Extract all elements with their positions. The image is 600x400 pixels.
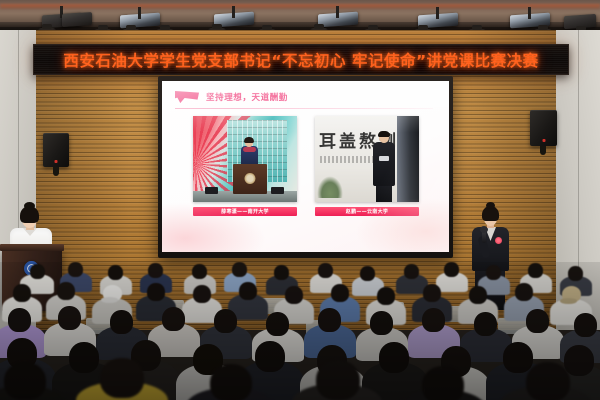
stage-monitor — [205, 187, 218, 194]
attendee-head — [210, 364, 252, 400]
photo-podium — [233, 164, 267, 194]
speaker-power-led — [55, 160, 58, 163]
attendee-head — [255, 341, 285, 372]
attendee-head — [58, 306, 81, 330]
attendee-head — [574, 313, 597, 337]
wall-speaker-right — [530, 110, 557, 146]
attendee-head — [266, 312, 289, 336]
presentation-slide: 坚持理想，天道酬勤 — [162, 81, 449, 252]
speaker-power-led — [542, 139, 545, 142]
attendee-head — [318, 263, 333, 278]
attendee-head — [239, 282, 257, 300]
lectern-top — [0, 244, 64, 251]
led-banner-text: 西安石油大学学生党支部书记“不忘初心 牢记使命”讲党课比赛决赛 — [34, 45, 568, 74]
attendee-head — [148, 263, 163, 278]
attendee-head — [13, 284, 31, 302]
slide-photo-right: 耳盖熬例 — [315, 116, 419, 202]
auditorium-scene: 西安石油大学学生党支部书记“不忘初心 牢记使命”讲党课比赛决赛 坚持理想，天道酬… — [0, 0, 600, 400]
attendee-head — [100, 358, 144, 398]
attendee-head — [526, 309, 549, 333]
attendee-head — [486, 265, 501, 280]
attendee-head — [193, 285, 211, 303]
seated-audience — [0, 262, 600, 400]
slide-divider — [175, 108, 433, 109]
attendee-head — [57, 282, 75, 300]
light-yoke — [528, 7, 531, 19]
attendee-head — [528, 263, 543, 278]
flag-icon — [175, 91, 199, 103]
attendee-head — [444, 262, 459, 277]
light-yoke — [232, 6, 235, 18]
backdrop-calligraphy: 耳盖熬例 — [319, 130, 381, 154]
attendee-head — [316, 360, 360, 400]
attendee-head — [423, 284, 441, 302]
attendee-head — [69, 342, 99, 373]
attendee-head — [404, 264, 419, 279]
photo-caption-right: 赵鹏——云南大学 — [315, 207, 419, 216]
baseball-cap — [103, 285, 122, 301]
potted-plant — [317, 176, 343, 198]
attendee-head — [4, 362, 46, 400]
light-yoke — [336, 6, 339, 18]
attendee-head — [568, 266, 583, 281]
attendee-head — [564, 345, 594, 376]
attendee-head — [162, 307, 185, 331]
presenter-hair-bun — [24, 202, 35, 210]
attendee-head — [285, 286, 303, 304]
attendee-head — [377, 287, 395, 305]
stage-monitor — [271, 187, 284, 194]
photo-caption-left: 薛寒潇——南开大学 — [193, 207, 297, 216]
attendee-head — [274, 265, 289, 280]
baseball-cap — [562, 286, 581, 302]
light-yoke — [138, 7, 141, 19]
slide-photo-left — [193, 116, 297, 202]
led-scrolling-banner: 西安石油大学学生党支部书记“不忘初心 牢记使命”讲党课比赛决赛 — [33, 44, 569, 75]
jacket-logo — [379, 156, 389, 161]
figure-torso — [373, 142, 395, 186]
attendee-head — [147, 283, 165, 301]
figure-hair — [244, 137, 254, 143]
attendee-head — [318, 308, 341, 332]
attendee-head — [192, 264, 207, 279]
flower-corsage-icon — [495, 237, 502, 244]
slide-title: 坚持理想，天道酬勤 — [206, 91, 288, 103]
speaker-mount-right — [540, 146, 546, 155]
attendee-head — [379, 342, 409, 373]
led-panel-light — [62, 12, 92, 27]
projection-screen: 坚持理想，天道酬勤 — [158, 76, 453, 258]
attendee-head — [108, 265, 123, 280]
backdrop-dark-edge — [397, 116, 419, 202]
attendee-head — [469, 286, 487, 304]
host-hair-topknot — [486, 202, 495, 209]
attendee-head — [515, 283, 533, 301]
photo-student-figure — [373, 132, 395, 202]
attendee-head — [360, 266, 375, 281]
figure-legs — [376, 184, 392, 202]
attendee-head — [474, 312, 497, 336]
attendee-head — [422, 308, 445, 332]
ceiling-accent-stripe — [0, 4, 600, 9]
wall-speaker-left — [43, 133, 69, 167]
speaker-mount-left — [53, 167, 59, 176]
figure-scarf — [243, 147, 256, 152]
attendee-head — [370, 311, 393, 335]
attendee-head — [110, 310, 133, 334]
attendee-head — [232, 262, 247, 277]
light-yoke — [436, 7, 439, 19]
attendee-head — [526, 362, 570, 400]
figure-hair — [378, 131, 390, 137]
attendee-head — [30, 264, 45, 279]
attendee-head — [422, 366, 464, 400]
backdrop-subtext — [320, 156, 378, 163]
attendee-head — [331, 284, 349, 302]
attendee-head — [68, 262, 83, 277]
attendee-head — [214, 309, 237, 333]
attendee-head — [503, 342, 533, 373]
attendee-head — [8, 308, 31, 332]
